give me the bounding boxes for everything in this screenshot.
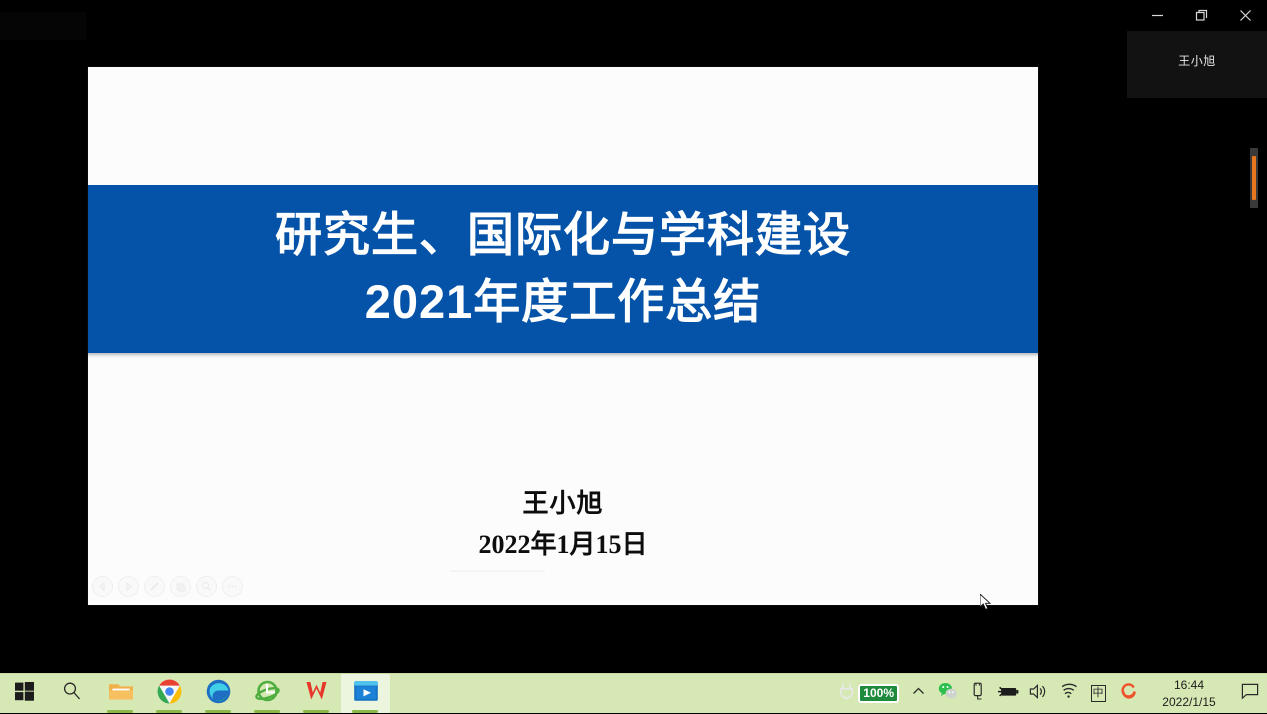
window-controls[interactable] <box>1127 0 1267 31</box>
pen-tool-icon[interactable] <box>144 576 165 597</box>
internet-explorer-icon <box>255 679 280 709</box>
action-center-button[interactable] <box>1235 674 1265 714</box>
previous-slide-icon[interactable] <box>92 576 113 597</box>
chrome-button[interactable] <box>145 674 194 713</box>
windows-logo-icon <box>15 682 34 706</box>
file-explorer-button[interactable] <box>96 674 145 713</box>
wifi-icon <box>1059 683 1078 704</box>
folder-icon <box>108 680 134 707</box>
wechat-tray-button[interactable] <box>933 674 963 714</box>
system-tray[interactable]: 100% <box>835 674 1267 714</box>
slide-progress-hint <box>450 570 545 572</box>
usb-icon <box>971 682 986 706</box>
side-indicator-thumb[interactable] <box>1252 156 1256 200</box>
slide-date: 2022年1月15日 <box>88 524 1038 561</box>
edge-icon <box>206 679 231 709</box>
volume-tray-button[interactable] <box>1023 674 1053 714</box>
network-tray-button[interactable] <box>1053 674 1083 714</box>
wechat-icon <box>938 682 958 705</box>
wps-office-button[interactable] <box>292 674 341 713</box>
slide-author: 王小旭 <box>88 483 1038 520</box>
start-button[interactable] <box>0 674 48 713</box>
speech-bubble-icon <box>1241 683 1259 705</box>
wps-icon <box>304 679 329 708</box>
clock-date: 2022/1/15 <box>1162 694 1215 710</box>
taskbar-clock[interactable]: 16:44 2022/1/15 <box>1143 674 1235 714</box>
more-options-icon[interactable] <box>222 576 243 597</box>
participant-name: 王小旭 <box>1178 52 1216 69</box>
minimize-icon[interactable] <box>1135 0 1179 31</box>
power-tray-button[interactable] <box>993 674 1023 714</box>
slide-title-line-2: 2021年度工作总结 <box>365 269 762 336</box>
close-icon[interactable] <box>1223 0 1267 31</box>
sogou-icon <box>1119 682 1138 706</box>
slideshow-controls[interactable] <box>92 576 243 597</box>
internet-explorer-button[interactable] <box>243 674 292 713</box>
next-slide-icon[interactable] <box>118 576 139 597</box>
sogou-input-tray-button[interactable] <box>1113 674 1143 714</box>
restore-icon[interactable] <box>1179 0 1223 31</box>
presentation-button[interactable] <box>341 674 390 713</box>
ime-chinese-icon: 中 <box>1091 685 1106 702</box>
slide-header-space <box>88 67 1038 185</box>
safely-remove-hardware-button[interactable] <box>963 674 993 714</box>
slide-body: 王小旭 2022年1月15日 <box>88 358 1038 605</box>
slide-title-line-1: 研究生、国际化与学科建设 <box>275 202 851 269</box>
slide-title-banner: 研究生、国际化与学科建设 2021年度工作总结 <box>88 185 1038 353</box>
top-left-bleed <box>0 12 86 40</box>
power-plug-icon <box>839 682 856 705</box>
battery-percent: 100% <box>858 684 899 703</box>
chrome-icon <box>157 679 182 709</box>
zoom-in-icon[interactable] <box>196 576 217 597</box>
presentation-slide[interactable]: 研究生、国际化与学科建设 2021年度工作总结 王小旭 2022年1月15日 <box>88 67 1038 605</box>
search-icon <box>62 681 82 706</box>
clock-time: 16:44 <box>1174 677 1204 693</box>
video-surface: 王小旭 <box>1127 31 1267 98</box>
side-indicator-track[interactable] <box>1250 148 1258 208</box>
battery-icon <box>997 683 1019 704</box>
show-hidden-icons-button[interactable] <box>903 674 933 714</box>
battery-status[interactable]: 100% <box>835 682 903 705</box>
chevron-up-icon <box>911 684 926 704</box>
windows-taskbar[interactable]: 100% <box>0 673 1267 713</box>
all-slides-icon[interactable] <box>170 576 191 597</box>
taskbar-app-buttons[interactable] <box>0 674 390 714</box>
search-button[interactable] <box>48 674 96 713</box>
presentation-player-icon <box>353 679 379 708</box>
speaker-icon <box>1029 683 1048 705</box>
ime-mode-button[interactable]: 中 <box>1083 674 1113 714</box>
screen-share-root: 研究生、国际化与学科建设 2021年度工作总结 王小旭 2022年1月15日 <box>0 0 1267 713</box>
edge-button[interactable] <box>194 674 243 713</box>
